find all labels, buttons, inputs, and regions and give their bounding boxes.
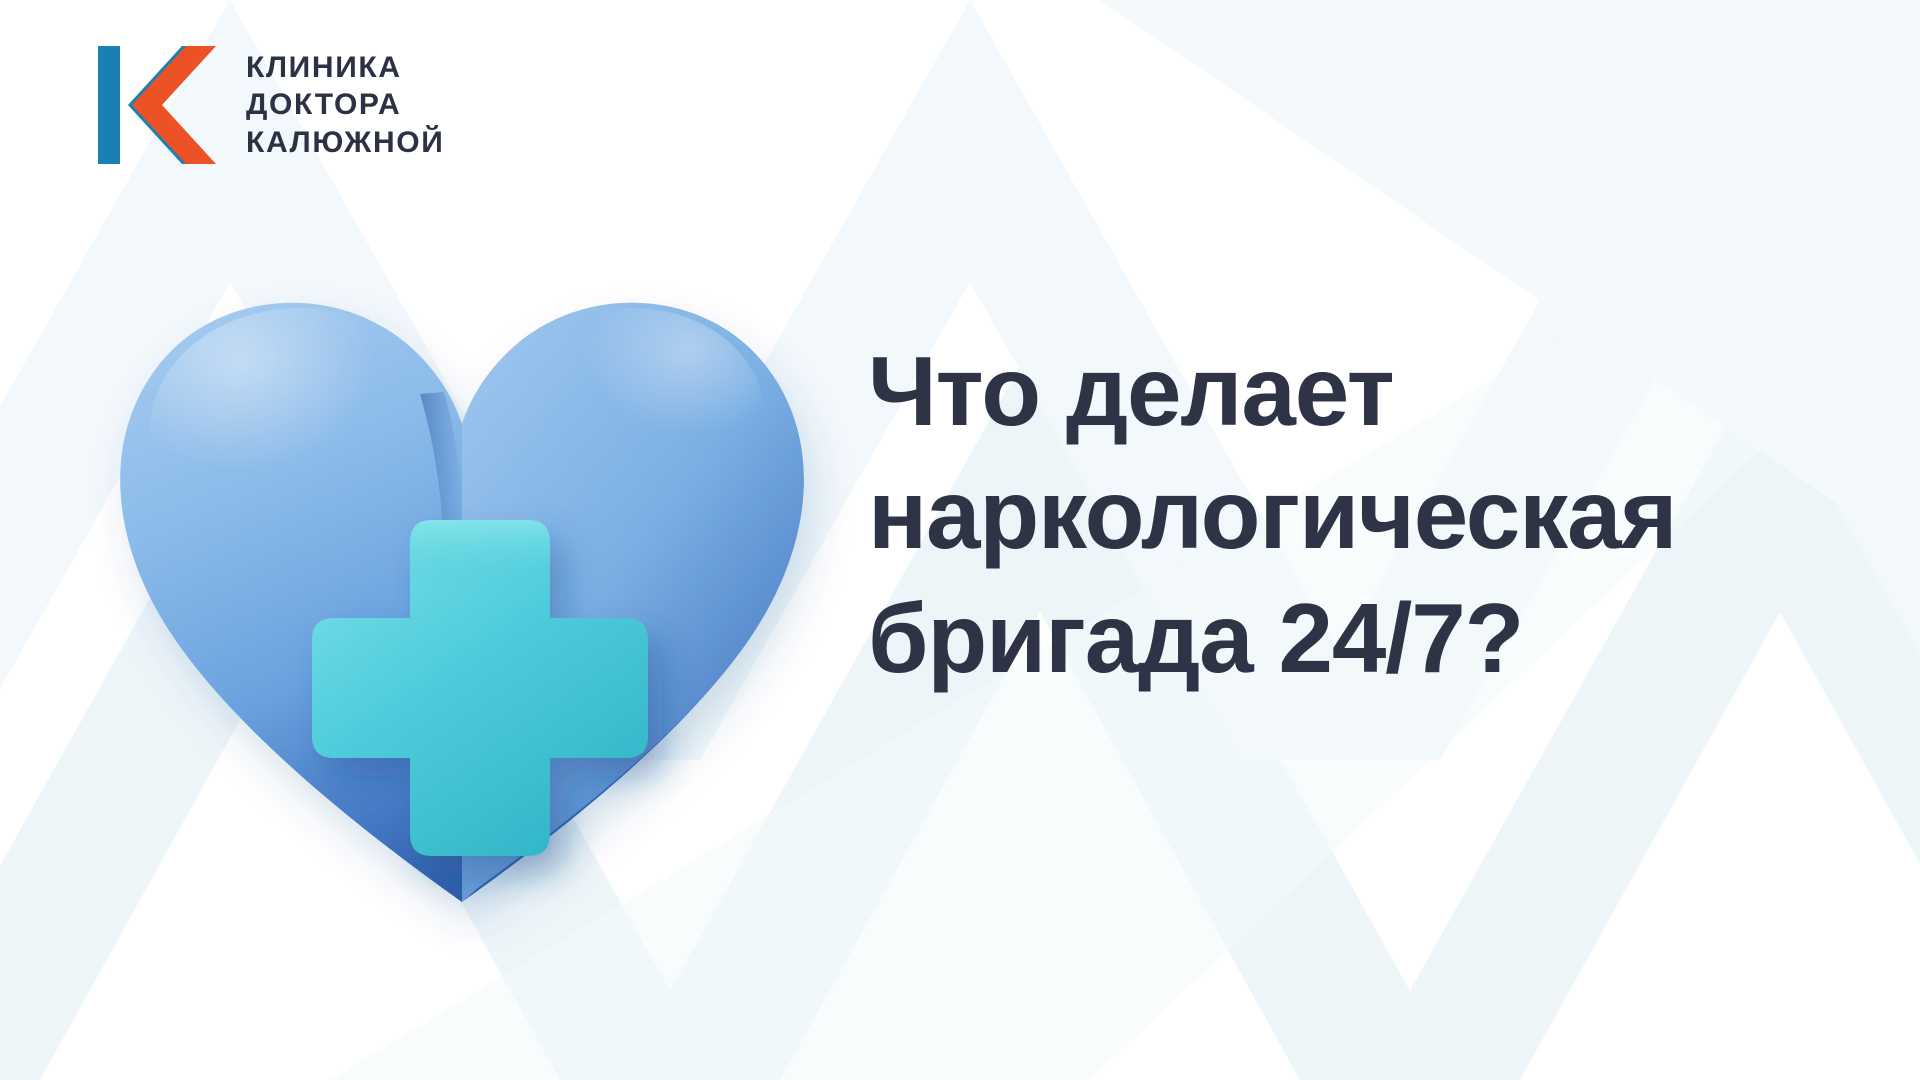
- heart-with-medical-cross-icon: [92, 242, 832, 912]
- headline-line-2: наркологическая: [868, 453, 1868, 576]
- brand-wordmark: КЛИНИКА ДОКТОРА КАЛЮЖНОЙ: [246, 50, 444, 160]
- page-title: Что делает наркологическая бригада 24/7?: [868, 330, 1868, 700]
- brand-wordmark-line-2: ДОКТОРА: [246, 87, 444, 122]
- promo-banner: КЛИНИКА ДОКТОРА КАЛЮЖНОЙ: [0, 0, 1920, 1080]
- brand-wordmark-line-1: КЛИНИКА: [246, 50, 444, 85]
- headline-line-1: Что делает: [868, 330, 1868, 453]
- double-chevron-k-icon: [96, 42, 224, 168]
- brand-logo[interactable]: КЛИНИКА ДОКТОРА КАЛЮЖНОЙ: [96, 42, 444, 168]
- brand-wordmark-line-3: КАЛЮЖНОЙ: [246, 125, 444, 160]
- headline-line-3: бригада 24/7?: [868, 577, 1868, 700]
